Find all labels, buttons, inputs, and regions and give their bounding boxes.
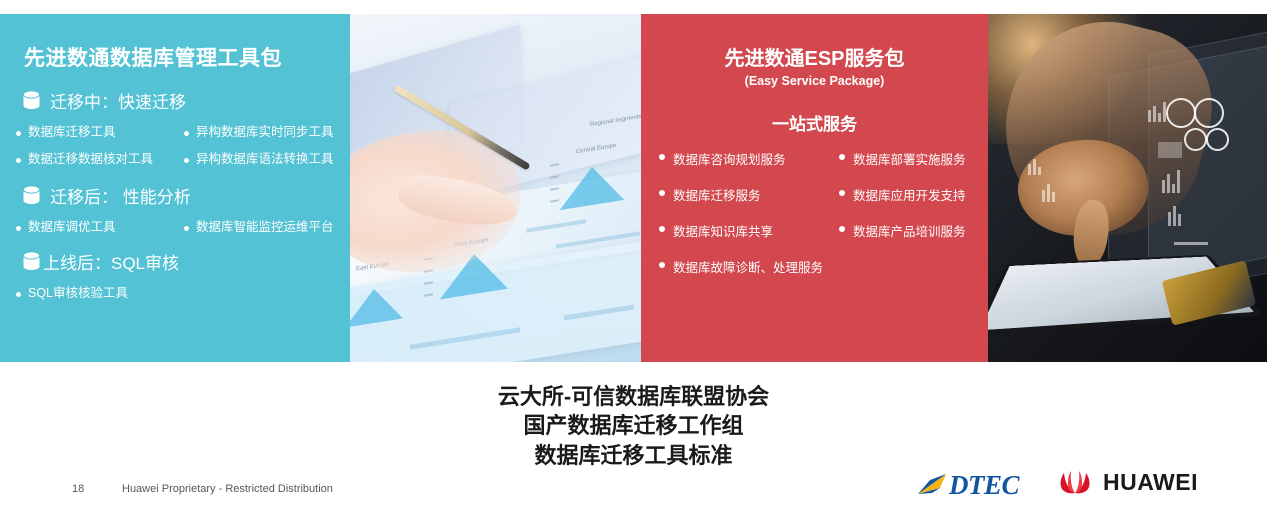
teal-panel: 先进数通数据库管理工具包 迁移中：快速迁移 数据库迁移工具 异构数据库实时同步工…	[0, 14, 350, 362]
bullet-dot-icon	[16, 131, 21, 136]
list-item: 异构数据库实时同步工具	[182, 125, 340, 140]
bullet-dot-icon	[16, 292, 21, 297]
hud-ring-icon	[1184, 128, 1207, 151]
bullet-dot-icon	[839, 190, 845, 196]
list-item: 数据库产品培训服务	[839, 221, 988, 240]
list-item-label: 数据库部署实施服务	[853, 149, 966, 168]
bullet-dot-icon	[839, 226, 845, 232]
database-icon	[22, 185, 41, 207]
red-bullet-grid: 数据库咨询规划服务 数据库部署实施服务 数据库迁移服务 数据库应用开发支持 数据…	[659, 149, 988, 276]
red-panel-title: 先进数通ESP服务包	[641, 42, 988, 71]
hud-block	[1158, 142, 1182, 158]
list-item-label: 异构数据库实时同步工具	[196, 125, 334, 140]
list-item-label: 数据库迁移工具	[28, 125, 116, 140]
bullet-dot-icon	[184, 158, 189, 163]
list-item: 数据库知识库共享	[659, 221, 839, 240]
hud-bar	[1028, 164, 1031, 175]
photo-hand-tablet-data	[988, 14, 1267, 362]
hud-bar	[1042, 190, 1045, 202]
list-item-label: 数据库知识库共享	[673, 221, 773, 240]
banner-strip: 先进数通数据库管理工具包 迁移中：快速迁移 数据库迁移工具 异构数据库实时同步工…	[0, 14, 1267, 362]
list-item-label: 数据库应用开发支持	[853, 185, 966, 204]
hud-bar	[1178, 214, 1181, 226]
bullet-dot-icon	[16, 226, 21, 231]
hud-ring-icon	[1194, 98, 1224, 128]
bullet-dot-icon	[839, 154, 845, 160]
huawei-flower-icon	[1055, 468, 1095, 496]
list-item-label: 数据库智能监控运维平台	[196, 220, 334, 235]
hud-bar	[1052, 192, 1055, 202]
list-item: 数据库智能监控运维平台	[182, 220, 340, 235]
database-icon	[22, 90, 41, 112]
hud-bar	[1038, 167, 1041, 175]
huawei-logo: HUAWEI	[1055, 468, 1198, 496]
red-panel-title-en: (Easy Service Package)	[641, 74, 988, 88]
hud-bar	[1158, 113, 1161, 122]
teal-section-heading-text: 迁移中：快速迁移	[50, 88, 186, 113]
hud-bar	[1153, 106, 1156, 122]
teal-section-heading-after-golive: 上线后：SQL审核	[22, 249, 340, 274]
list-item: SQL审核核验工具	[14, 286, 340, 301]
headline-line-2: 国产数据库迁移工作组	[0, 411, 1267, 440]
teal-section-heading-text: 迁移后： 性能分析	[50, 183, 191, 208]
hud-bar	[1163, 102, 1166, 122]
list-item-label: SQL审核核验工具	[28, 286, 128, 301]
list-item: 数据库迁移工具	[14, 125, 182, 140]
list-item: 异构数据库语法转换工具	[182, 152, 340, 167]
huawei-logo-text: HUAWEI	[1103, 469, 1198, 496]
page-number: 18	[72, 483, 84, 495]
teal-bullet-grid-after-golive: SQL审核核验工具	[14, 286, 340, 301]
list-item-label: 数据库调优工具	[28, 220, 116, 235]
hud-ring-icon	[1206, 128, 1229, 151]
bullet-dot-icon	[184, 226, 189, 231]
list-item-label: 数据库迁移服务	[673, 185, 761, 204]
hud-bar	[1168, 212, 1171, 226]
headline-line-3: 数据库迁移工具标准	[0, 441, 1267, 470]
list-item-label: 异构数据库语法转换工具	[196, 152, 334, 167]
hud-bar	[1173, 206, 1176, 226]
hud-bar	[1162, 180, 1165, 193]
teal-section-heading-after-migration: 迁移后： 性能分析	[22, 183, 340, 208]
hud-bar	[1148, 110, 1151, 122]
dtec-logo: DTEC	[916, 470, 1019, 501]
list-item: 数据库故障诊断、处理服务	[659, 257, 988, 276]
hud-bar	[1172, 184, 1175, 193]
axis-tick	[550, 175, 559, 178]
hud-bar	[1047, 184, 1050, 202]
bullet-dot-icon	[659, 262, 665, 268]
red-panel-subtitle: 一站式服务	[641, 110, 988, 135]
list-item: 数据库应用开发支持	[839, 185, 988, 204]
hud-bar	[1033, 159, 1036, 175]
hud-bar	[1177, 170, 1180, 193]
list-item-label: 数据库咨询规划服务	[673, 149, 786, 168]
bullet-dot-icon	[16, 158, 21, 163]
dtec-arrow-icon	[916, 471, 952, 501]
list-item-label: 数据库产品培训服务	[853, 221, 966, 240]
teal-panel-title: 先进数通数据库管理工具包	[24, 42, 340, 72]
list-item: 数据库迁移服务	[659, 185, 839, 204]
teal-bullet-grid-migrating: 数据库迁移工具 异构数据库实时同步工具 数据迁移数据核对工具 异构数据库语法转换…	[14, 125, 340, 167]
database-icon	[22, 251, 41, 273]
photo-hand-with-pen-charts: Regional segments Central Europe West Eu…	[350, 14, 641, 362]
teal-section-heading-migrating: 迁移中：快速迁移	[22, 88, 340, 113]
bullet-dot-icon	[659, 190, 665, 196]
hud-bar	[1167, 174, 1170, 193]
confidentiality-notice: Huawei Proprietary - Restricted Distribu…	[122, 483, 333, 495]
list-item: 数据库咨询规划服务	[659, 149, 839, 168]
red-panel: 先进数通ESP服务包 (Easy Service Package) 一站式服务 …	[641, 14, 988, 362]
hud-ring-icon	[1166, 98, 1196, 128]
list-item-label: 数据库故障诊断、处理服务	[673, 257, 823, 276]
teal-bullet-grid-after-migration: 数据库调优工具 数据库智能监控运维平台	[14, 220, 340, 235]
headline-block: 云大所-可信数据库联盟协会 国产数据库迁移工作组 数据库迁移工具标准	[0, 382, 1267, 470]
teal-section-heading-text: 上线后：SQL审核	[43, 249, 179, 274]
dtec-logo-text: DTEC	[949, 470, 1019, 501]
hud-line	[1174, 242, 1208, 245]
bullet-dot-icon	[659, 226, 665, 232]
bullet-dot-icon	[184, 131, 189, 136]
list-item: 数据迁移数据核对工具	[14, 152, 182, 167]
list-item: 数据库调优工具	[14, 220, 182, 235]
list-item: 数据库部署实施服务	[839, 149, 988, 168]
headline-line-1: 云大所-可信数据库联盟协会	[0, 382, 1267, 411]
list-item-label: 数据迁移数据核对工具	[28, 152, 153, 167]
bullet-dot-icon	[659, 154, 665, 160]
